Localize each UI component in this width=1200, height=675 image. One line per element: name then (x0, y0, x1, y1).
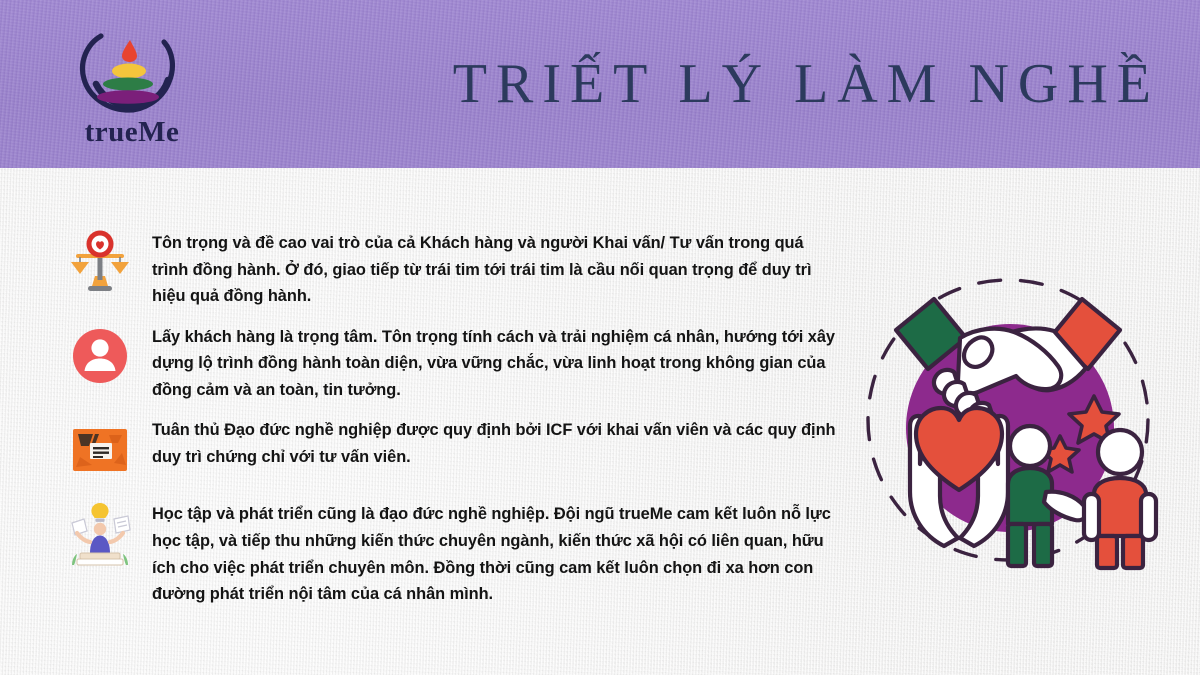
list-item: Tôn trọng và đề cao vai trò của cả Khách… (62, 230, 842, 310)
learning-meditation-icon (62, 497, 138, 571)
page-title: TRIẾT LÝ LÀM NGHỀ (243, 52, 1160, 116)
partnership-handshake-heart-people-illustration (848, 268, 1178, 568)
content-area: Tôn trọng và đề cao vai trò của cả Khách… (0, 168, 1200, 675)
slide-root: trueMe TRIẾT LÝ LÀM NGHỀ (0, 0, 1200, 675)
principle-text: Tuân thủ Đạo đức nghề nghiệp được quy đị… (152, 417, 842, 470)
list-item: Lấy khách hàng là trọng tâm. Tôn trọng t… (62, 324, 842, 404)
list-item: Tuân thủ Đạo đức nghề nghiệp được quy đị… (62, 417, 842, 487)
principle-text: Lấy khách hàng là trọng tâm. Tôn trọng t… (152, 324, 842, 404)
ethics-certificate-icon (62, 413, 138, 487)
list-item: Học tập và phát triển cũng là đạo đức ng… (62, 501, 842, 607)
principle-text: Tôn trọng và đề cao vai trò của cả Khách… (152, 230, 842, 310)
header-band: trueMe TRIẾT LÝ LÀM NGHỀ (0, 0, 1200, 168)
brand-logo[interactable]: trueMe (62, 22, 202, 150)
person-avatar-icon (62, 320, 138, 394)
trueme-stacked-stones-logo (76, 22, 186, 118)
balance-scale-heart-icon (62, 226, 138, 300)
principles-list: Tôn trọng và đề cao vai trò của cả Khách… (62, 230, 842, 622)
principle-text: Học tập và phát triển cũng là đạo đức ng… (152, 501, 842, 607)
brand-wordmark: trueMe (62, 118, 202, 147)
